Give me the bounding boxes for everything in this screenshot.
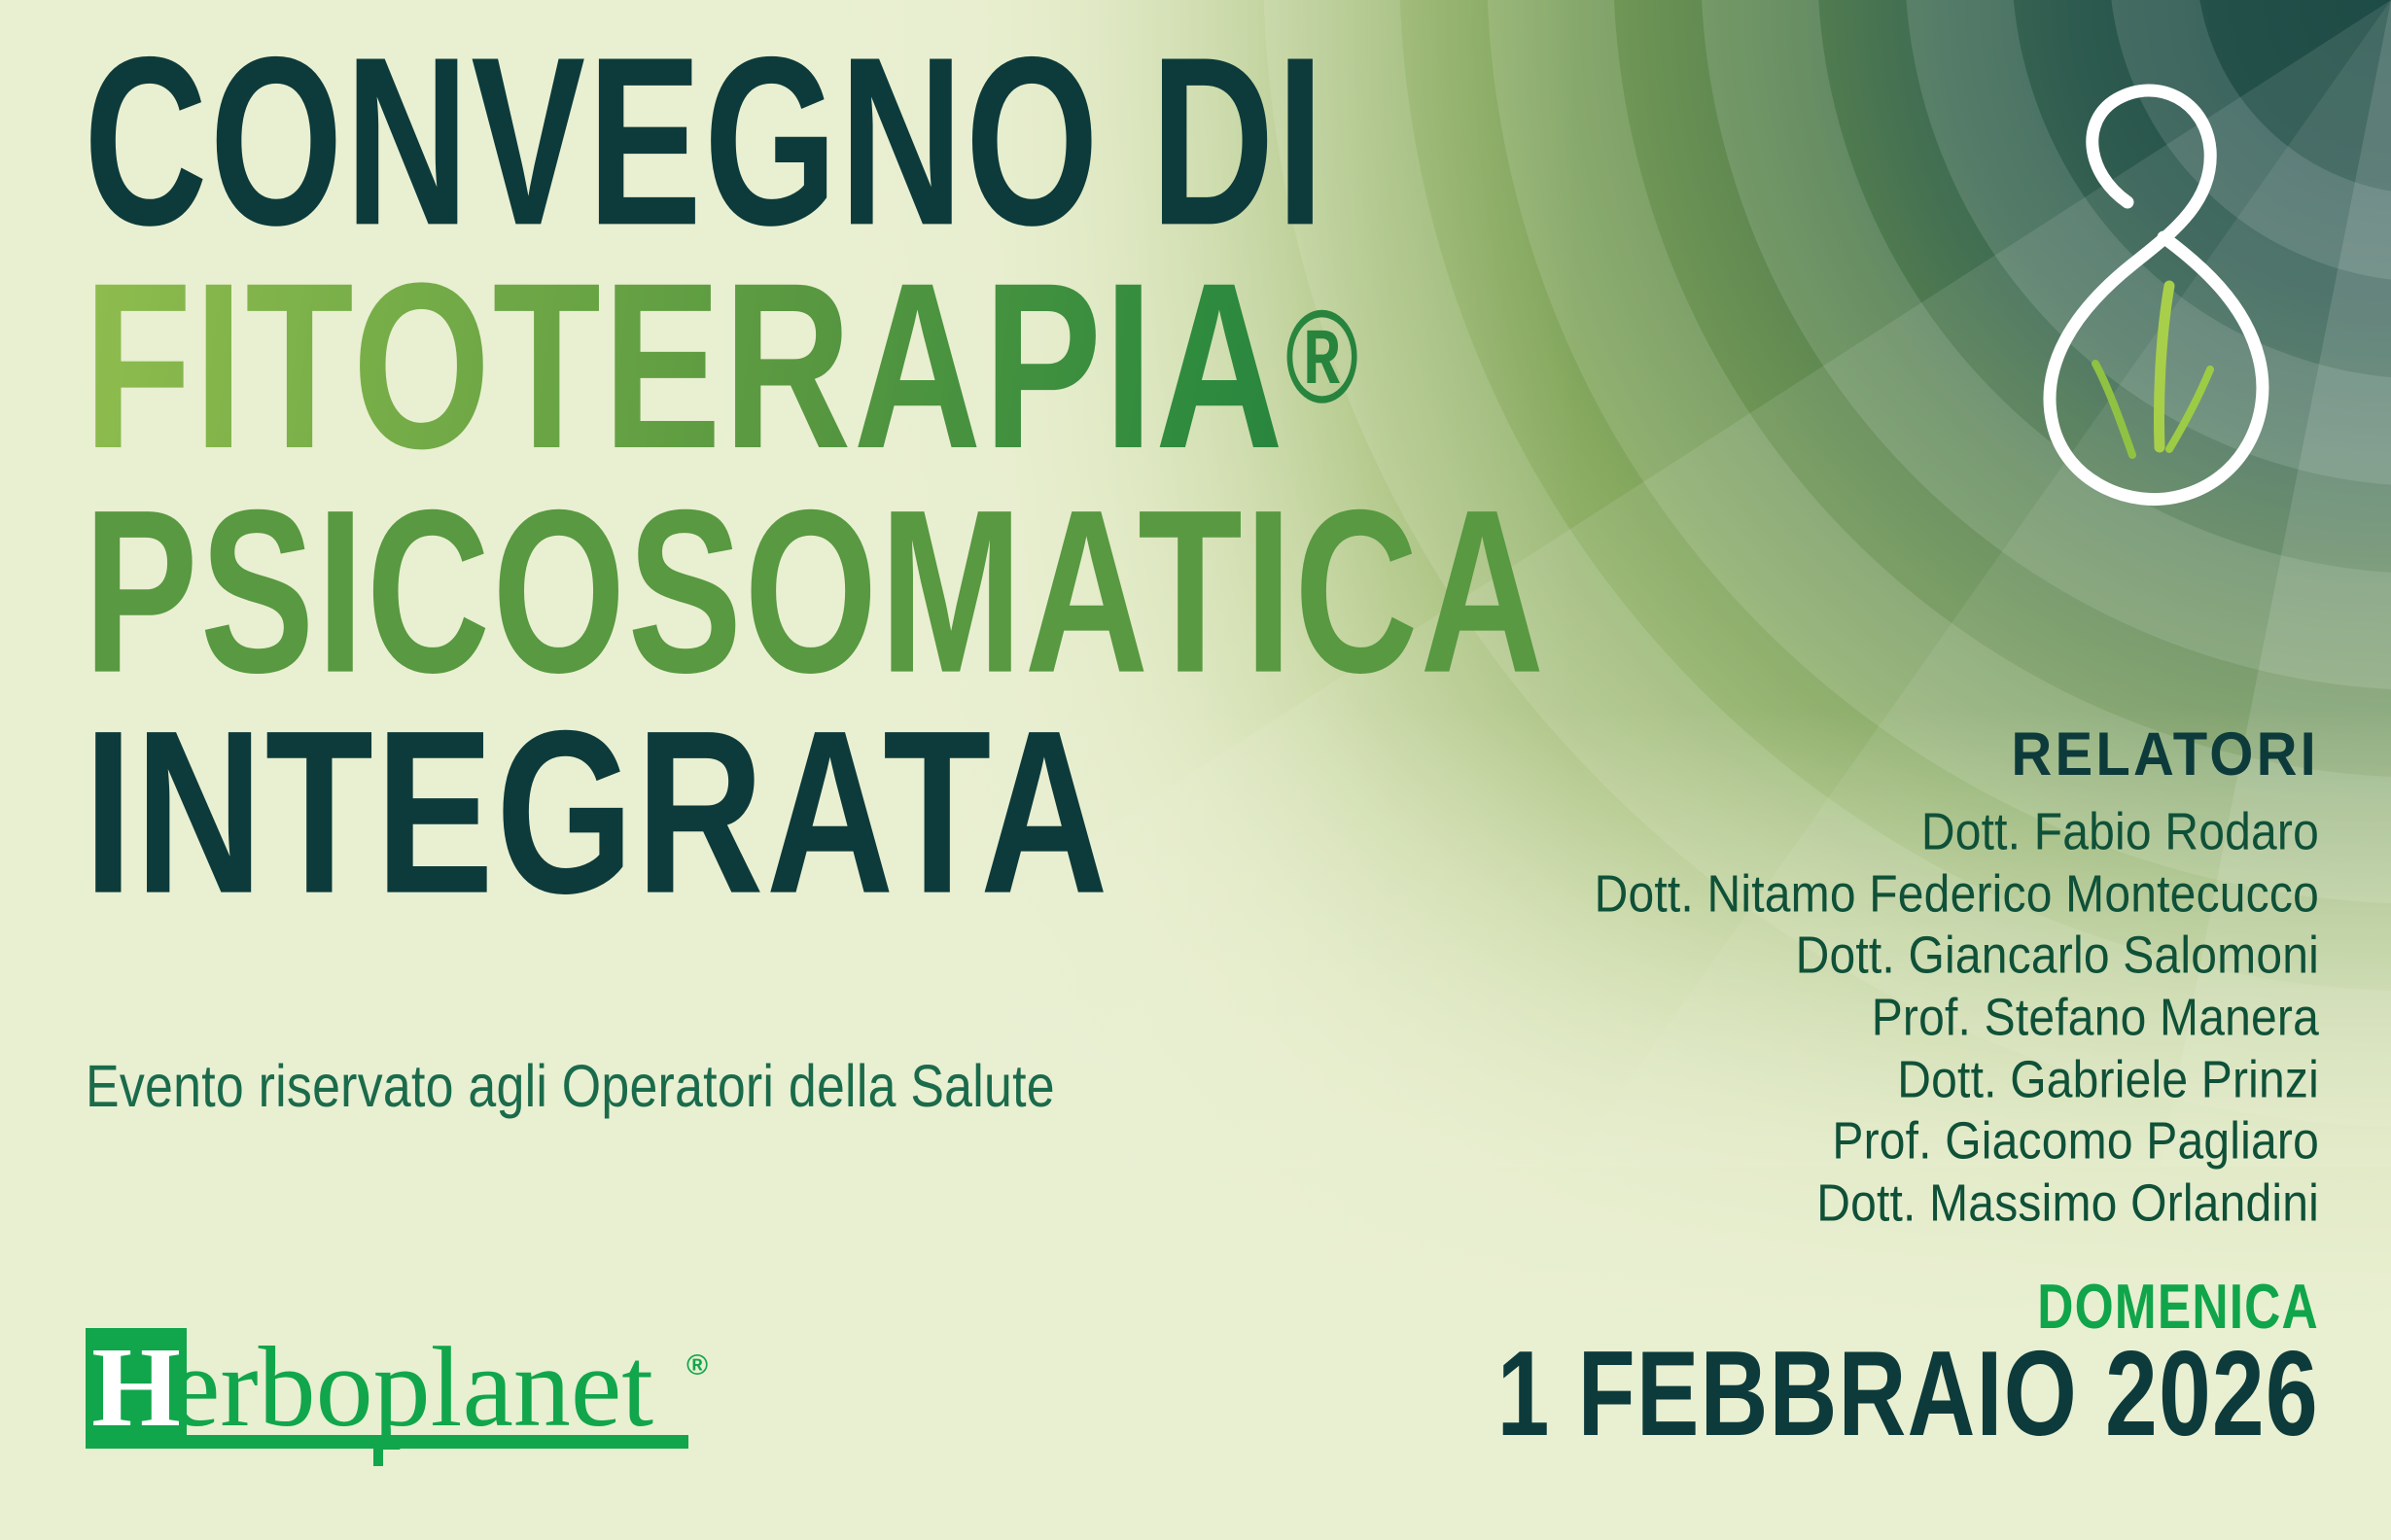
list-item: Dott. Giancarlo Salomoni <box>1461 923 2319 991</box>
event-date: 1 FEBBRAIO 2026 <box>1497 1325 2319 1464</box>
headline-subtitle: Evento riservato agli Operatori della Sa… <box>86 1052 1055 1121</box>
list-item: Prof. Stefano Manera <box>1461 985 2319 1053</box>
logo-registered-icon: ® <box>686 1349 708 1382</box>
relatori-speaker-list: Dott. Fabio Rodaro Dott. Nitamo Federico… <box>1444 802 2319 1236</box>
relatori-block: RELATORI Dott. Fabio Rodaro Dott. Nitamo… <box>1444 719 2319 1236</box>
list-item: Dott. Gabriele Prinzi <box>1461 1047 2319 1115</box>
event-date-block: DOMENICA 1 FEBBRAIO 2026 <box>1435 1279 2319 1464</box>
headline-fitoterapia-text: FITOTERAPIA <box>84 233 1285 498</box>
registered-trademark-icon: ® <box>1285 284 1358 431</box>
headline-line-integrata: INTEGRATA <box>84 713 1494 913</box>
headline-line-psicosomatica: PSICOSOMATICA <box>84 493 1449 693</box>
relatori-heading: RELATORI <box>1444 719 2319 789</box>
poster-canvas: CONVEGNO DI FITOTERAPIA® PSICOSOMATICA I… <box>0 0 2391 1540</box>
headline-line-convegno: CONVEGNO DI <box>84 39 1449 245</box>
infinity-droplet-icon <box>2016 56 2307 523</box>
headline-block: CONVEGNO DI FITOTERAPIA® PSICOSOMATICA I… <box>84 60 1600 894</box>
list-item: Dott. Massimo Orlandini <box>1461 1171 2319 1239</box>
list-item: Dott. Fabio Rodaro <box>1461 799 2319 867</box>
logo-stem <box>373 1435 383 1466</box>
list-item: Prof. Giacomo Pagliaro <box>1461 1108 2319 1176</box>
logo-underline <box>86 1435 688 1449</box>
logo-wordmark: erboplanet <box>169 1323 653 1451</box>
list-item: Dott. Nitamo Federico Montecucco <box>1461 861 2319 929</box>
herboplanet-logo: H erboplanet ® <box>86 1320 747 1466</box>
logo-initial-letter: H <box>91 1323 181 1451</box>
headline-line-fitoterapia: FITOTERAPIA® <box>84 264 1494 468</box>
